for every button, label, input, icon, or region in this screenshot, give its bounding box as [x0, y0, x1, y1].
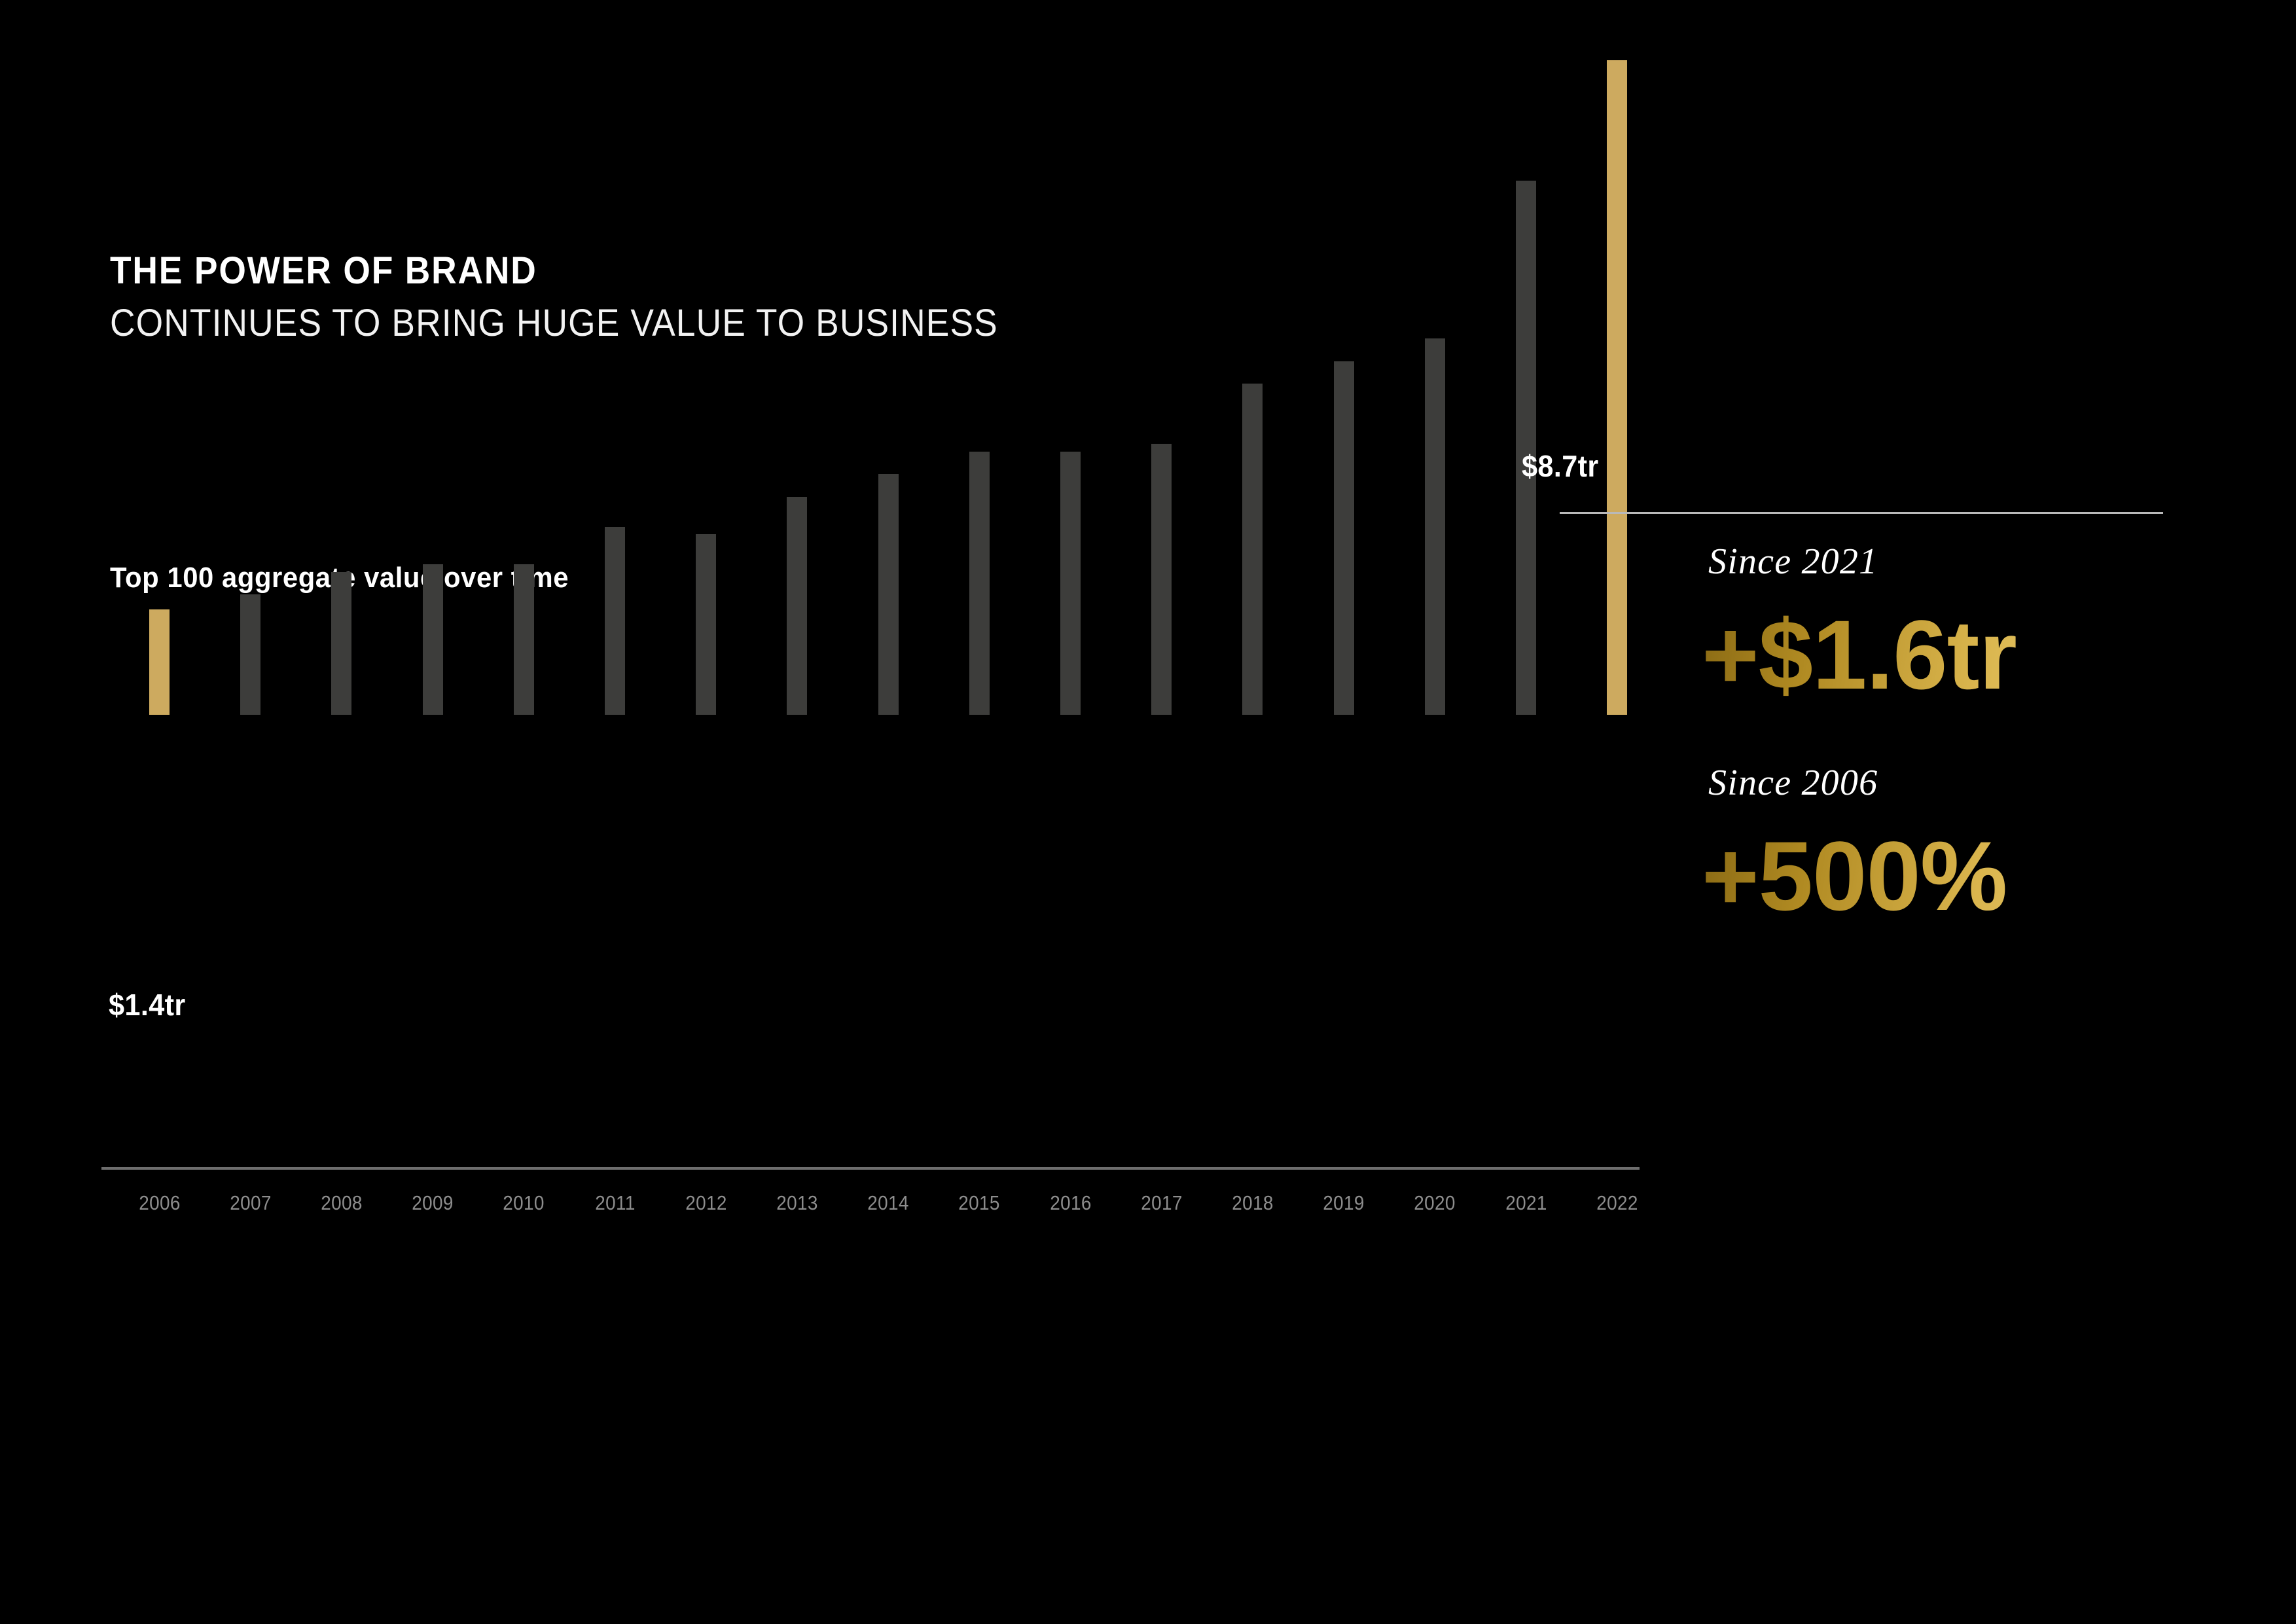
bar-2021 [1516, 181, 1536, 715]
bar-2017 [1151, 444, 1172, 715]
bar-2007 [240, 594, 260, 715]
x-tick-2015: 2015 [944, 1191, 1014, 1215]
bar-2006 [149, 609, 170, 715]
x-tick-2006: 2006 [124, 1191, 195, 1215]
x-tick-2019: 2019 [1308, 1191, 1379, 1215]
bar-2018 [1242, 384, 1263, 715]
bar-2015 [969, 452, 990, 715]
x-tick-2016: 2016 [1035, 1191, 1106, 1215]
x-tick-2010: 2010 [488, 1191, 559, 1215]
x-tick-2014: 2014 [853, 1191, 924, 1215]
bar-2019 [1334, 361, 1354, 715]
x-tick-2021: 2021 [1491, 1191, 1562, 1215]
x-axis-line [101, 1167, 1640, 1170]
x-tick-2020: 2020 [1399, 1191, 1470, 1215]
data-label-2006: $1.4tr [109, 987, 186, 1022]
x-tick-2007: 2007 [215, 1191, 286, 1215]
bar-2009 [423, 564, 443, 715]
x-tick-2022: 2022 [1582, 1191, 1653, 1215]
bar-2012 [696, 534, 716, 715]
slide-root: THE POWER OF BRAND CONTINUES TO BRING HU… [0, 0, 2296, 1624]
bar-2022 [1607, 60, 1627, 715]
x-tick-2018: 2018 [1217, 1191, 1288, 1215]
bar-2010 [514, 564, 534, 715]
bar-2020 [1425, 338, 1445, 715]
stat-block-1: Since 2021+$1.6tr [1702, 543, 2296, 707]
stat-value-1: +$1.6tr [1702, 604, 2296, 707]
x-tick-2011: 2011 [580, 1191, 651, 1215]
stat-block-2: Since 2006+500% [1702, 765, 2296, 928]
x-tick-2017: 2017 [1126, 1191, 1197, 1215]
stat-caption-1: Since 2021 [1708, 543, 2296, 580]
x-tick-2009: 2009 [397, 1191, 468, 1215]
bar-2016 [1060, 452, 1081, 715]
bar-2011 [605, 527, 625, 715]
bar-2013 [787, 497, 807, 715]
stat-value-2: +500% [1702, 825, 2296, 928]
x-tick-2008: 2008 [306, 1191, 377, 1215]
stat-caption-2: Since 2006 [1708, 765, 2296, 801]
callout-connector-line [1560, 512, 2163, 514]
bar-chart-plot: $1.4tr $8.7tr [0, 0, 1702, 1172]
x-tick-2012: 2012 [671, 1191, 742, 1215]
chart-area: Top 100 aggregate value over time $1.4tr… [0, 0, 1702, 1624]
data-label-2022: $8.7tr [1522, 448, 1599, 484]
x-axis-tick-labels: 2006200720082009201020112012201320142015… [0, 1191, 1702, 1231]
bar-2008 [331, 572, 351, 715]
stats-panel: Since 2021+$1.6trSince 2006+500% [1702, 543, 2296, 985]
bar-2014 [878, 474, 899, 715]
x-tick-2013: 2013 [762, 1191, 833, 1215]
